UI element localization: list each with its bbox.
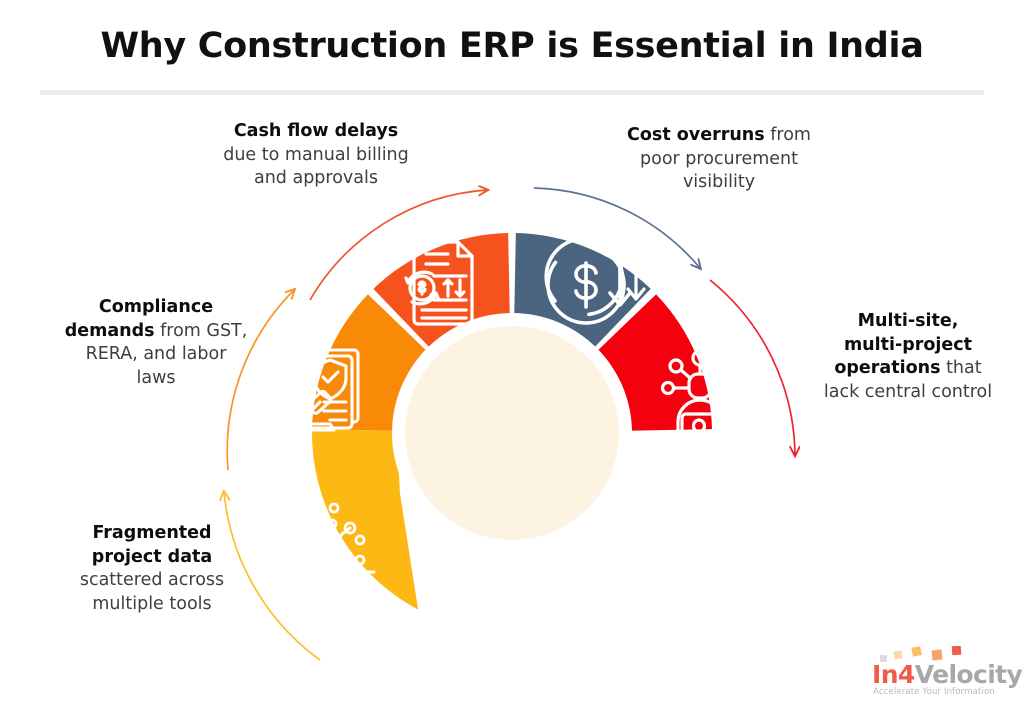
callout-compliance-lead-tail: from GST, xyxy=(155,321,248,341)
infographic-canvas: Why Construction ERP is Essential in Ind… xyxy=(0,0,1024,714)
callout-cash-flow: Cash flow delays due to manual billing a… xyxy=(176,120,456,191)
callout-cost-overruns-lead-tail: from xyxy=(765,125,811,145)
callout-cash-flow-line3: and approvals xyxy=(254,168,378,188)
callout-fragmented-line3: scattered across xyxy=(80,570,224,590)
callout-compliance: Compliance demands from GST, RERA, and l… xyxy=(36,296,276,391)
callout-compliance-lead2: demands xyxy=(65,321,155,341)
brand-logo[interactable]: In4Velocity Accelerate Your Information xyxy=(872,646,1000,700)
inner-cream-disc xyxy=(405,326,619,540)
callout-fragmented: Fragmented project data scattered across… xyxy=(38,522,266,617)
callout-cash-flow-line2: due to manual billing xyxy=(223,145,409,165)
callout-multi-site-lead: Multi-site, xyxy=(858,311,959,331)
callout-fragmented-lead: Fragmented xyxy=(92,523,211,543)
logo-tagline: Accelerate Your Information xyxy=(873,687,995,697)
callout-cash-flow-lead: Cash flow delays xyxy=(234,121,398,141)
callout-multi-site-lead2: multi-project xyxy=(844,335,972,355)
callout-compliance-lead: Compliance xyxy=(99,297,213,317)
callout-cost-overruns: Cost overruns from poor procurement visi… xyxy=(590,124,848,195)
logo-name-primary: In4 xyxy=(872,660,915,689)
callout-fragmented-line4: multiple tools xyxy=(92,594,211,614)
callout-multi-site: Multi-site, multi-project operations tha… xyxy=(794,310,1022,405)
callout-multi-site-line4: lack central control xyxy=(824,382,992,402)
callout-multi-site-lead-tail: that xyxy=(941,358,982,378)
logo-name-secondary: Velocity xyxy=(915,660,1023,689)
callout-cost-overruns-line3: visibility xyxy=(683,172,755,192)
callout-compliance-line4: laws xyxy=(136,368,175,388)
callout-fragmented-lead2: project data xyxy=(92,547,212,567)
callout-compliance-line3: RERA, and labor xyxy=(86,344,227,364)
logo-wordmark: In4Velocity xyxy=(872,660,1022,689)
callout-cost-overruns-lead: Cost overruns xyxy=(627,125,765,145)
callout-multi-site-lead3: operations xyxy=(834,358,940,378)
callout-cost-overruns-line2: poor procurement xyxy=(640,149,798,169)
